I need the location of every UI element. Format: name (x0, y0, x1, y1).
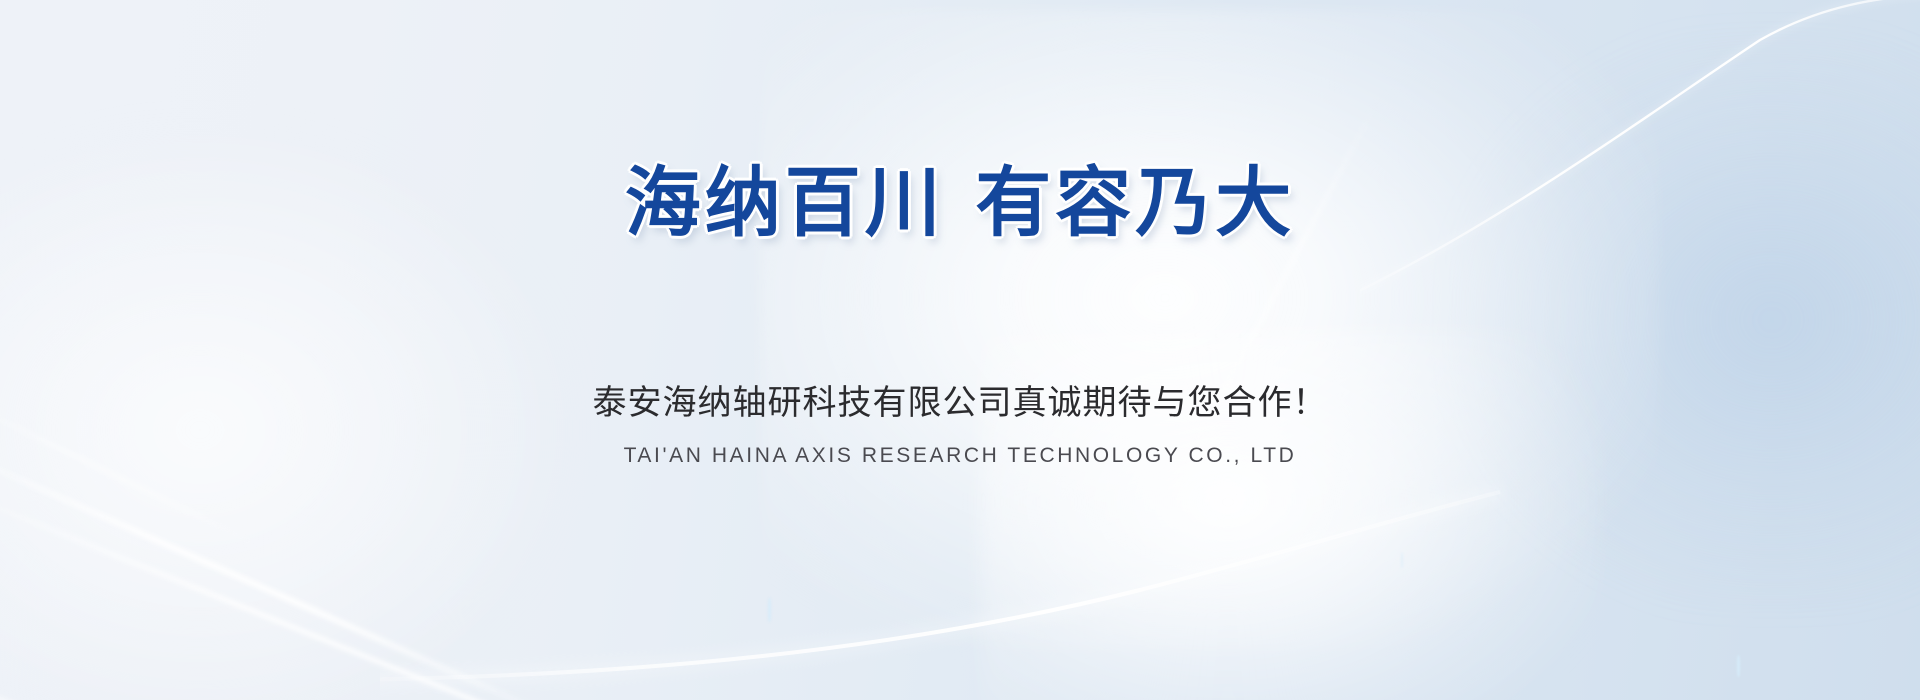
hero-banner: 海纳百川 有容乃大 泰安海纳轴研科技有限公司真诚期待与您合作！ TAI'AN H… (0, 0, 1920, 700)
banner-subtitle-english: TAI'AN HAINA AXIS RESEARCH TECHNOLOGY CO… (0, 442, 1920, 469)
banner-subtitle-chinese: 泰安海纳轴研科技有限公司真诚期待与您合作！ (0, 381, 1920, 425)
banner-content: 海纳百川 有容乃大 泰安海纳轴研科技有限公司真诚期待与您合作！ TAI'AN H… (0, 0, 1920, 700)
banner-headline: 海纳百川 有容乃大 (0, 165, 1920, 241)
